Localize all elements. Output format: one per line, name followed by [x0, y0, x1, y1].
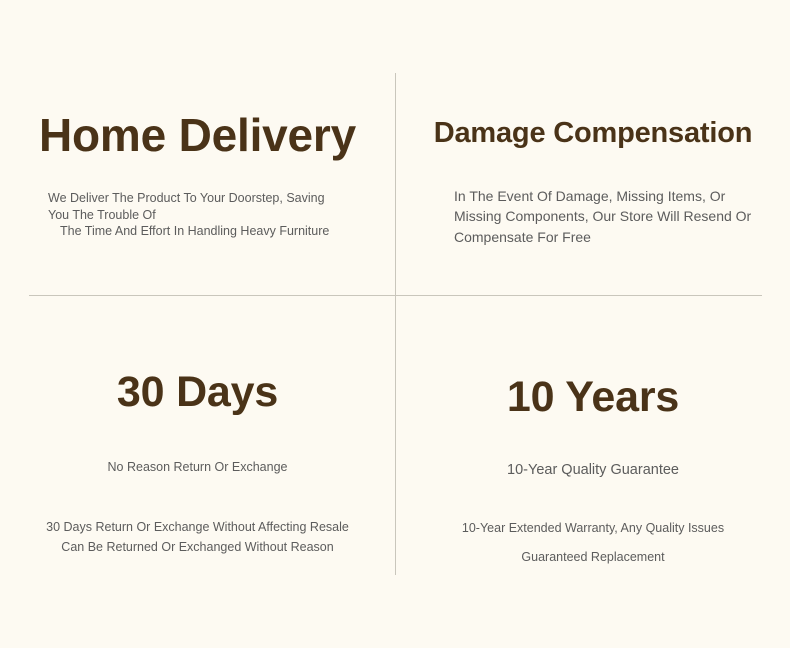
service-guarantee-grid: Home Delivery We Deliver The Product To …	[0, 0, 790, 648]
cell-thirty-days: 30 Days No Reason Return Or Exchange 30 …	[0, 296, 395, 575]
cell-home-delivery: Home Delivery We Deliver The Product To …	[0, 73, 395, 295]
ten-years-line-2: 10-Year Extended Warranty, Any Quality I…	[396, 521, 790, 535]
cell-ten-years: 10 Years 10-Year Quality Guarantee 10-Ye…	[396, 296, 790, 575]
ten-years-line-3: Guaranteed Replacement	[396, 550, 790, 564]
ten-years-heading: 10 Years	[396, 375, 790, 420]
thirty-days-heading: 30 Days	[0, 370, 395, 415]
home-delivery-line-2: The Time And Effort In Handling Heavy Fu…	[60, 223, 380, 240]
ten-years-line-1: 10-Year Quality Guarantee	[396, 462, 790, 478]
home-delivery-heading: Home Delivery	[0, 111, 395, 159]
thirty-days-line-3: Can Be Returned Or Exchanged Without Rea…	[0, 540, 395, 556]
thirty-days-line-2: 30 Days Return Or Exchange Without Affec…	[0, 520, 395, 534]
damage-compensation-line-1: In The Event Of Damage, Missing Items, O…	[454, 186, 772, 247]
home-delivery-line-1: We Deliver The Product To Your Doorstep,…	[48, 190, 348, 224]
damage-compensation-heading: Damage Compensation	[396, 118, 790, 148]
thirty-days-line-1: No Reason Return Or Exchange	[0, 460, 395, 474]
cell-damage-compensation: Damage Compensation In The Event Of Dama…	[396, 73, 790, 295]
